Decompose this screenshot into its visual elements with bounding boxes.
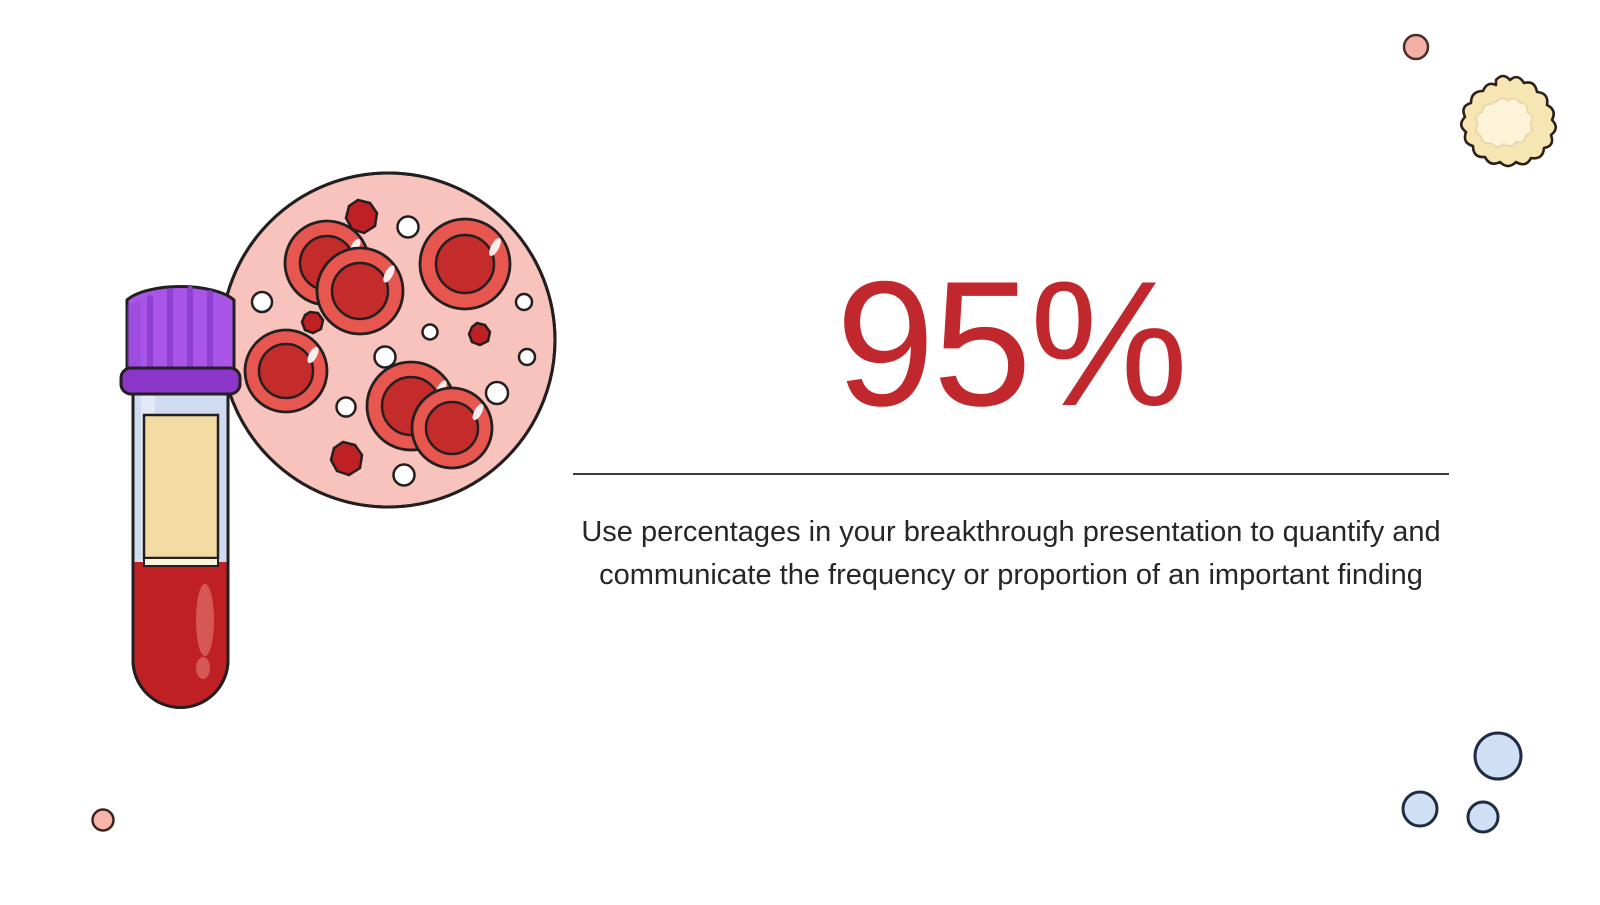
- blood-sample-illustration: [0, 0, 620, 900]
- red-blood-cell: [420, 219, 510, 309]
- red-blood-cell: [317, 248, 403, 334]
- accent-pink-circle-top-right: [1401, 32, 1431, 67]
- accent-blue-circle-large: [1475, 733, 1521, 779]
- test-tube-cap: [121, 286, 240, 394]
- accent-blue-circle-medium: [1403, 792, 1437, 826]
- accent-blue-circles-group: [1388, 730, 1600, 855]
- accent-pink-circle-bottom-left: [90, 807, 116, 838]
- blood-magnified-circle: [221, 173, 555, 507]
- accent-white-blood-cell: [1452, 72, 1562, 182]
- horizontal-divider: [573, 473, 1449, 475]
- slide-canvas: 95% Use percentages in your breakthrough…: [0, 0, 1600, 900]
- accent-blue-circle-small: [1468, 802, 1498, 832]
- red-blood-cell: [245, 330, 327, 412]
- tube-blood-layer: [133, 562, 228, 712]
- stat-content-block: 95% Use percentages in your breakthrough…: [573, 255, 1449, 597]
- red-blood-cell: [412, 388, 492, 468]
- cap-collar: [121, 368, 240, 394]
- body-description-text: Use percentages in your breakthrough pre…: [573, 511, 1449, 597]
- percentage-stat: 95%: [573, 255, 1449, 415]
- tube-plasma-layer: [144, 415, 218, 566]
